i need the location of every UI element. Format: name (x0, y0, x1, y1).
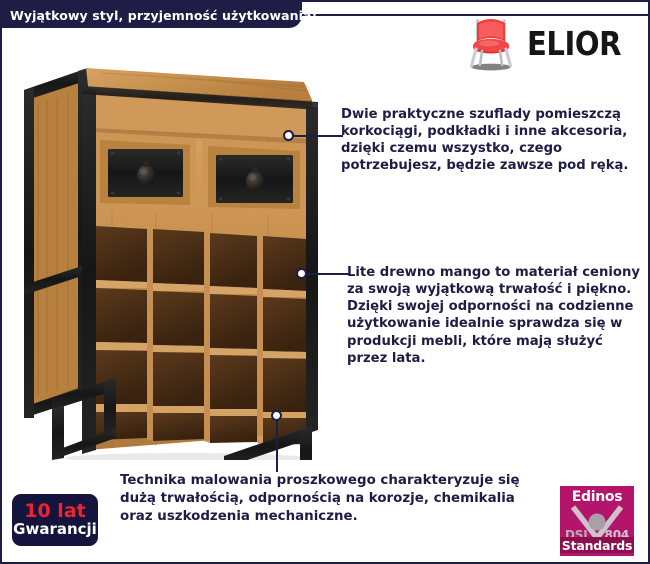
edinos-standards: Standards (560, 537, 634, 553)
wine-cabinet-illustration (16, 60, 326, 460)
product-image (16, 60, 326, 460)
red-chair-icon (463, 14, 519, 72)
callout-drawers: Dwie praktyczne szuflady pomieszczą kork… (341, 106, 641, 175)
promo-infographic: Wyjątkowy styl, przyjemność użytkowania!… (0, 0, 650, 564)
brand-logo: ELIOR (463, 14, 634, 72)
edinos-badge: Edinos DSI 804 Standards (560, 486, 634, 556)
callout-dot-drawers (283, 130, 294, 141)
callout-drawers-text: Dwie praktyczne szuflady pomieszczą kork… (341, 106, 641, 175)
callout-leader-powder-coating (276, 420, 278, 472)
brand-name: ELIOR (527, 24, 621, 63)
warranty-badge: 10 lat Gwarancji (12, 494, 98, 546)
callout-dot-powder-coating (271, 410, 282, 421)
callout-leader-drawers (293, 135, 343, 137)
callout-powder-coating-text: Technika malowania proszkowego charakter… (120, 472, 540, 526)
warranty-years: 10 lat (24, 502, 85, 521)
header-banner-text: Wyjątkowy styl, przyjemność użytkowania! (10, 8, 317, 23)
header-banner: Wyjątkowy styl, przyjemność użytkowania! (2, 2, 302, 28)
callout-dot-mango-wood (296, 268, 307, 279)
warranty-label: Gwarancji (13, 521, 97, 538)
callout-leader-mango-wood (306, 273, 350, 275)
edinos-name: Edinos (560, 489, 634, 505)
callout-mango-wood-text: Lite drewno mango to materiał ceniony za… (347, 264, 647, 367)
callout-powder-coating: Technika malowania proszkowego charakter… (120, 472, 540, 526)
callout-mango-wood: Lite drewno mango to materiał ceniony za… (347, 264, 647, 367)
